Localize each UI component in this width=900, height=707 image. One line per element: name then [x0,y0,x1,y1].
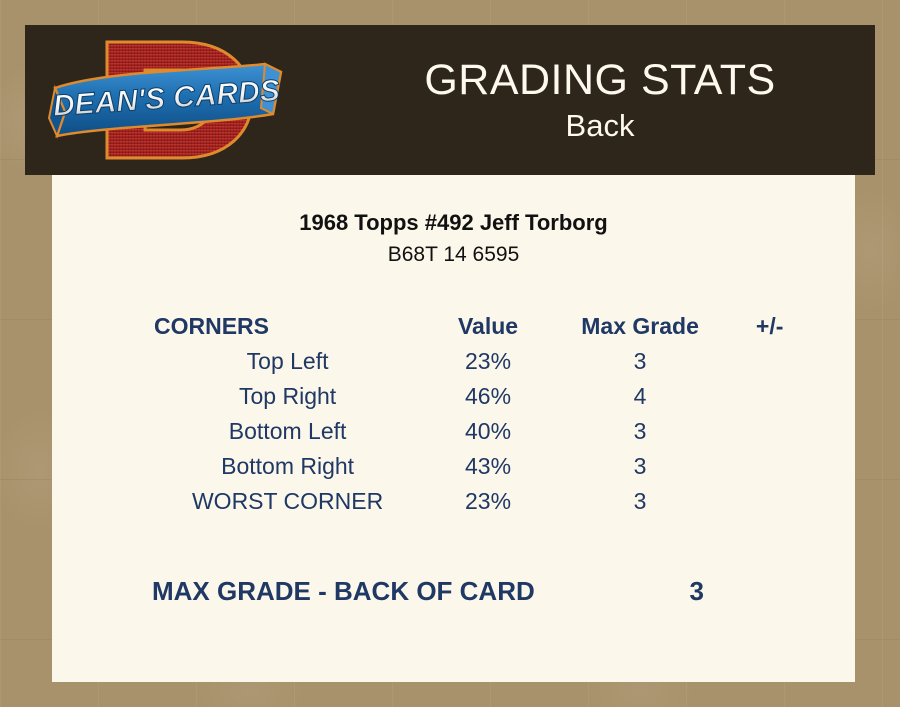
table-header: CORNERS Value Max Grade +/- [152,309,812,344]
row-max-grade: 3 [553,344,727,379]
header-max-grade: Max Grade [553,309,727,344]
header-corners: CORNERS [152,309,423,344]
header-text-block: GRADING STATS Back [325,25,875,175]
row-label: Top Right [152,379,423,414]
page-title: GRADING STATS [424,55,775,105]
table-row: WORST CORNER23%3 [152,484,812,519]
row-plus-minus [727,379,812,414]
row-value: 23% [423,484,553,519]
max-grade-value: 3 [690,576,704,607]
card-title-block: 1968 Topps #492 Jeff Torborg B68T 14 659… [52,208,855,270]
row-label: Top Left [152,344,423,379]
row-max-grade: 3 [553,449,727,484]
table-header-row: CORNERS Value Max Grade +/- [152,309,812,344]
row-value: 23% [423,344,553,379]
row-plus-minus [727,344,812,379]
row-plus-minus [727,484,812,519]
max-grade-summary-row: MAX GRADE - BACK OF CARD 3 [152,576,812,607]
table-row: Top Left23%3 [152,344,812,379]
row-max-grade: 4 [553,379,727,414]
header-bar: DEAN'S CARDS GRADING STATS Back [25,25,875,175]
table-row: Bottom Right43%3 [152,449,812,484]
card-name: 1968 Topps #492 Jeff Torborg [52,208,855,238]
row-value: 43% [423,449,553,484]
page-subtitle: Back [566,107,635,145]
row-label: Bottom Right [152,449,423,484]
content-panel: 1968 Topps #492 Jeff Torborg B68T 14 659… [52,175,855,682]
logo-graphic: DEAN'S CARDS [47,30,312,170]
max-grade-label: MAX GRADE - BACK OF CARD [152,576,535,607]
row-plus-minus [727,414,812,449]
table-row: Bottom Left40%3 [152,414,812,449]
row-label: WORST CORNER [152,484,423,519]
row-plus-minus [727,449,812,484]
header-value: Value [423,309,553,344]
deans-cards-logo[interactable]: DEAN'S CARDS [47,30,312,170]
row-max-grade: 3 [553,484,727,519]
row-value: 46% [423,379,553,414]
row-max-grade: 3 [553,414,727,449]
header-plus-minus: +/- [727,309,812,344]
row-value: 40% [423,414,553,449]
row-label: Bottom Left [152,414,423,449]
grading-stats-table: CORNERS Value Max Grade +/- Top Left23%3… [152,309,812,519]
table-row: Top Right46%4 [152,379,812,414]
card-code: B68T 14 6595 [52,240,855,270]
table-body: Top Left23%3Top Right46%4Bottom Left40%3… [152,344,812,519]
